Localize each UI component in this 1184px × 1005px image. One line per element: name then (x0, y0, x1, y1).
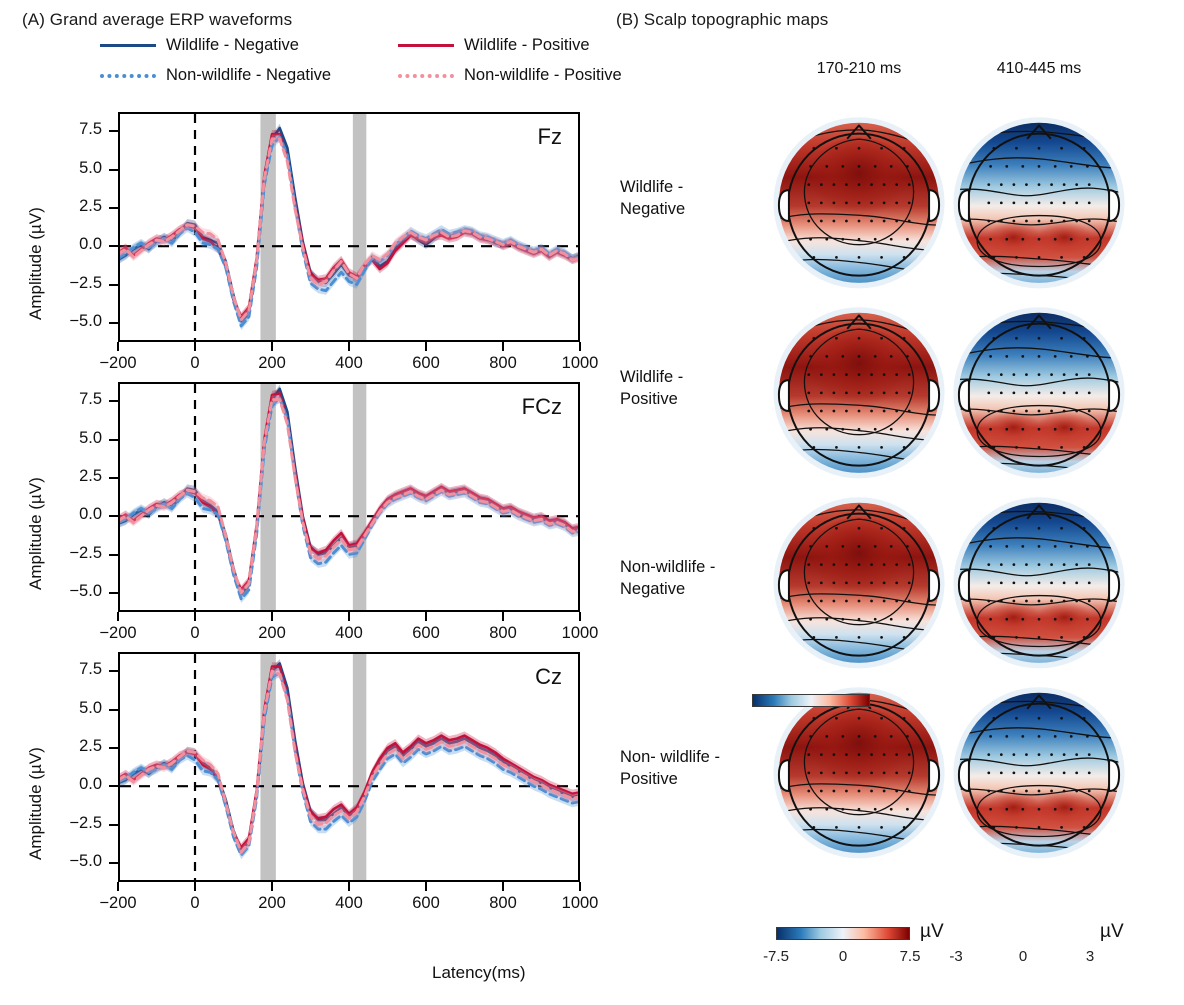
y-axis-label-cz: Amplitude (µV) (26, 747, 46, 860)
electrode-dot (1054, 165, 1057, 168)
electrode-dot (1075, 373, 1078, 376)
electrode-dot (880, 826, 883, 829)
electrode-dot (820, 581, 823, 584)
electrode-dot (908, 220, 911, 223)
right-ear-marker (1109, 760, 1119, 791)
x-tick-label: 1000 (540, 624, 620, 643)
x-tick-label: 200 (232, 624, 312, 643)
electrode-dot (870, 410, 873, 413)
topo-map-1 (948, 110, 1130, 292)
x-tick (271, 882, 273, 891)
y-tick-label: 5.0 (42, 429, 102, 448)
electrode-dot (1060, 636, 1063, 639)
electrode-dot (841, 545, 844, 548)
electrode-dot (858, 355, 861, 358)
x-tick (579, 882, 581, 891)
electrode-dot (833, 771, 836, 774)
electrode-dot (1038, 618, 1041, 621)
electrode-dot (1088, 563, 1091, 566)
electrode-dot (1005, 618, 1008, 621)
electrode-dot (895, 753, 898, 756)
electrode-dot (858, 735, 861, 738)
x-tick (502, 882, 504, 891)
electrode-dot (858, 545, 861, 548)
x-tick-label: 400 (309, 624, 389, 643)
x-tick (425, 342, 427, 351)
electrode-dot (883, 790, 886, 793)
electrode-dot (825, 238, 828, 241)
electrode-dot (1050, 600, 1053, 603)
electrode-dot (1075, 391, 1078, 394)
colorbar-unit-170-210: µV (920, 921, 944, 943)
electrode-dot (809, 808, 812, 811)
right-ear-marker (929, 570, 939, 601)
electrode-dot (1021, 165, 1024, 168)
electrode-dot (858, 771, 861, 774)
electrode-dot (880, 446, 883, 449)
electrode-dot (1075, 790, 1078, 793)
electrode-dot (858, 790, 861, 793)
electrode-dot (1075, 220, 1078, 223)
electrode-dot (1038, 717, 1041, 720)
erp-trace-fcz-2 (120, 398, 578, 599)
y-axis-label-fz: Amplitude (µV) (26, 207, 46, 320)
electrode-dot (906, 735, 909, 738)
electrode-dot (1086, 735, 1089, 738)
electrode-dot (1063, 373, 1066, 376)
x-tick (194, 342, 196, 351)
topo-map-cell-r0-c0 (768, 110, 950, 292)
electrode-dot (1025, 790, 1028, 793)
x-tick-label: 200 (232, 354, 312, 373)
electrode-dot (908, 183, 911, 186)
electrode-dot (883, 600, 886, 603)
electrode-dot (858, 165, 861, 168)
electrode-dot (1070, 618, 1073, 621)
x-tick (579, 342, 581, 351)
topo-map-cell-r1-c0 (768, 300, 950, 482)
electrode-dot (908, 771, 911, 774)
electrode-dot (835, 147, 838, 150)
electrode-dot (880, 527, 883, 530)
topo-map-2 (768, 300, 950, 482)
electrode-dot (1050, 753, 1053, 756)
electrode-dot (987, 753, 990, 756)
electrode-dot (1025, 183, 1028, 186)
colorbar-tick-170-210-1: 0 (819, 948, 867, 965)
x-tick (579, 612, 581, 621)
electrode-dot (1075, 753, 1078, 756)
electrode-dot (883, 771, 886, 774)
electrode-dot (1038, 220, 1041, 223)
electrode-dot (825, 545, 828, 548)
electrode-dot (858, 410, 861, 413)
x-tick-label: 1000 (540, 894, 620, 913)
y-tick (109, 477, 118, 479)
electrode-dot (1088, 581, 1091, 584)
x-tick-label: 0 (155, 624, 235, 643)
electrode-dot (1015, 826, 1018, 829)
electrode-dot (908, 201, 911, 204)
electrode-dot (807, 183, 810, 186)
electrode-dot (1075, 600, 1078, 603)
electrode-dot (1050, 410, 1053, 413)
electrode-dot (809, 545, 812, 548)
y-tick (109, 400, 118, 402)
electrode-dot (841, 618, 844, 621)
electrode-dot (1021, 808, 1024, 811)
electrode-dot (1025, 600, 1028, 603)
electrode-dot (883, 183, 886, 186)
y-tick (109, 554, 118, 556)
electrode-dot (908, 563, 911, 566)
electrode-dot (841, 355, 844, 358)
electrode-dot (880, 147, 883, 150)
electrode-dot (835, 256, 838, 259)
y-tick-label: 5.0 (42, 159, 102, 178)
x-tick (271, 342, 273, 351)
electrode-dot (1013, 563, 1016, 566)
electrode-dot (1025, 391, 1028, 394)
electrode-dot (987, 600, 990, 603)
electrode-dot (906, 355, 909, 358)
electrode-dot (880, 337, 883, 340)
electrode-dot (858, 373, 861, 376)
topo-map-5 (948, 490, 1130, 672)
electrode-dot (1005, 545, 1008, 548)
electrode-dot (1054, 428, 1057, 431)
electrode-dot (1000, 790, 1003, 793)
electrode-dot (880, 256, 883, 259)
electrode-dot (1000, 563, 1003, 566)
electrode-dot (1086, 355, 1089, 358)
y-tick (109, 670, 118, 672)
electrode-dot (845, 790, 848, 793)
topo-map-cell-r1-c1 (948, 300, 1130, 482)
electrode-dot (890, 165, 893, 168)
y-tick (109, 515, 118, 517)
colorbar-tick-410-445-2: 3 (1066, 948, 1114, 965)
electrode-dot (825, 355, 828, 358)
x-tick-label: 400 (309, 354, 389, 373)
electrode-dot (1063, 220, 1066, 223)
electrode-dot (989, 165, 992, 168)
electrode-dot (1025, 771, 1028, 774)
x-tick-label: 800 (463, 894, 543, 913)
electrode-dot (858, 808, 861, 811)
electrode-dot (1013, 391, 1016, 394)
channel-label-fz: Fz (538, 124, 562, 149)
electrode-dot (1015, 446, 1018, 449)
electrode-dot (845, 201, 848, 204)
electrode-dot (895, 201, 898, 204)
sem-ribbon-2 (120, 394, 578, 603)
electrode-dot (833, 183, 836, 186)
electrode-dot (835, 636, 838, 639)
topo-row-label-line: Wildlife - (620, 367, 760, 389)
channel-label-cz: Cz (535, 664, 562, 689)
topo-panel-group: 170-210 ms410-445 msWildlife -NegativeWi… (620, 0, 1184, 1005)
electrode-dot (845, 753, 848, 756)
colorbar-strip-170-210 (776, 927, 910, 940)
electrode-dot (858, 717, 861, 720)
electrode-dot (883, 373, 886, 376)
electrode-dot (989, 355, 992, 358)
topo-column-header-1: 410-445 ms (948, 60, 1130, 78)
x-tick (425, 612, 427, 621)
electrode-dot (820, 373, 823, 376)
electrode-dot (1021, 545, 1024, 548)
electrode-dot (1070, 165, 1073, 168)
electrode-dot (987, 183, 990, 186)
electrode-dot (870, 581, 873, 584)
electrode-dot (989, 735, 992, 738)
x-tick (348, 612, 350, 621)
electrode-dot (1038, 808, 1041, 811)
electrode-dot (880, 636, 883, 639)
electrode-dot (1000, 581, 1003, 584)
electrode-dot (883, 220, 886, 223)
electrode-dot (1050, 183, 1053, 186)
x-tick-label: 400 (309, 894, 389, 913)
left-ear-marker (959, 190, 969, 221)
electrode-dot (809, 238, 812, 241)
electrode-dot (989, 808, 992, 811)
electrode-dot (1038, 581, 1041, 584)
electrode-dot (820, 600, 823, 603)
electrode-dot (833, 220, 836, 223)
electrode-dot (987, 771, 990, 774)
electrode-dot (1060, 337, 1063, 340)
electrode-dot (833, 581, 836, 584)
electrode-dot (1054, 238, 1057, 241)
electrode-dot (1070, 428, 1073, 431)
electrode-dot (1050, 771, 1053, 774)
electrode-dot (825, 428, 828, 431)
x-tick-label: 600 (386, 894, 466, 913)
x-tick-label: −200 (78, 894, 158, 913)
electrode-dot (858, 201, 861, 204)
electrode-dot (833, 753, 836, 756)
electrode-dot (1070, 735, 1073, 738)
electrode-dot (1005, 355, 1008, 358)
topo-column-header-0: 170-210 ms (768, 60, 950, 78)
electrode-dot (1015, 337, 1018, 340)
electrode-dot (835, 826, 838, 829)
electrode-dot (1038, 636, 1041, 639)
electrode-dot (809, 165, 812, 168)
electrode-dot (895, 771, 898, 774)
electrode-dot (845, 391, 848, 394)
electrode-dot (895, 600, 898, 603)
electrode-dot (1000, 600, 1003, 603)
electrode-dot (1025, 201, 1028, 204)
electrode-dot (883, 391, 886, 394)
electrode-dot (908, 581, 911, 584)
electrode-dot (874, 735, 877, 738)
x-tick-label: 0 (155, 354, 235, 373)
electrode-dot (870, 771, 873, 774)
y-tick (109, 284, 118, 286)
sem-ribbon-2 (120, 133, 578, 330)
electrode-dot (1038, 373, 1041, 376)
electrode-dot (1038, 238, 1041, 241)
electrode-dot (1054, 545, 1057, 548)
electrode-dot (845, 183, 848, 186)
y-tick (109, 322, 118, 324)
y-tick-label: −5.0 (42, 852, 102, 871)
electrode-dot (895, 563, 898, 566)
topo-row-label-line: Negative (620, 199, 760, 221)
electrode-dot (1038, 256, 1041, 259)
electrode-dot (825, 165, 828, 168)
y-tick-label: −5.0 (42, 312, 102, 331)
electrode-dot (807, 201, 810, 204)
electrode-dot (1038, 446, 1041, 449)
topo-row-label-line: Positive (620, 769, 760, 791)
electrode-dot (845, 771, 848, 774)
electrode-dot (1021, 238, 1024, 241)
electrode-dot (1086, 618, 1089, 621)
y-tick (109, 592, 118, 594)
electrode-dot (845, 373, 848, 376)
topo-row-label-1: Wildlife -Positive (620, 367, 760, 411)
electrode-dot (1088, 600, 1091, 603)
electrode-dot (858, 636, 861, 639)
electrode-dot (841, 428, 844, 431)
electrode-dot (1038, 183, 1041, 186)
electrode-dot (820, 771, 823, 774)
electrode-dot (1063, 183, 1066, 186)
electrode-dot (1088, 183, 1091, 186)
erp-panel-group: Fz−5.0−2.50.02.55.07.5−20002004006008001… (0, 0, 620, 1005)
electrode-dot (883, 201, 886, 204)
electrode-dot (820, 183, 823, 186)
electrode-dot (906, 165, 909, 168)
electrode-dot (987, 790, 990, 793)
electrode-dot (1005, 808, 1008, 811)
electrode-dot (1060, 826, 1063, 829)
electrode-dot (858, 183, 861, 186)
electrode-dot (1050, 373, 1053, 376)
electrode-dot (874, 428, 877, 431)
electrode-dot (1038, 771, 1041, 774)
electrode-dot (1086, 428, 1089, 431)
electrode-dot (870, 753, 873, 756)
electrode-dot (890, 808, 893, 811)
electrode-dot (858, 563, 861, 566)
electrode-dot (1070, 808, 1073, 811)
electrode-dot (1050, 563, 1053, 566)
electrode-dot (1060, 147, 1063, 150)
topo-row-label-line: Non-wildlife - (620, 557, 760, 579)
electrode-dot (809, 735, 812, 738)
topo-map-cell-r2-c0 (768, 490, 950, 672)
electrode-dot (1013, 410, 1016, 413)
electrode-dot (890, 428, 893, 431)
electrode-dot (825, 808, 828, 811)
x-tick (194, 612, 196, 621)
colorbar-strip-overlapping (752, 694, 870, 707)
electrode-dot (906, 545, 909, 548)
electrode-dot (987, 373, 990, 376)
electrode-dot (820, 220, 823, 223)
electrode-dot (807, 790, 810, 793)
electrode-dot (1060, 256, 1063, 259)
electrode-dot (845, 581, 848, 584)
electrode-dot (1088, 391, 1091, 394)
electrode-dot (906, 238, 909, 241)
electrode-dot (874, 808, 877, 811)
topo-map-cell-r0-c1 (948, 110, 1130, 292)
electrode-dot (1063, 563, 1066, 566)
left-ear-marker (959, 380, 969, 411)
electrode-dot (987, 391, 990, 394)
electrode-dot (890, 238, 893, 241)
y-tick (109, 245, 118, 247)
electrode-dot (841, 238, 844, 241)
electrode-dot (833, 563, 836, 566)
electrode-dot (858, 826, 861, 829)
y-tick-label: 0.0 (42, 235, 102, 254)
electrode-dot (1013, 771, 1016, 774)
y-tick (109, 709, 118, 711)
electrode-dot (1025, 753, 1028, 756)
electrode-dot (820, 410, 823, 413)
electrode-dot (833, 410, 836, 413)
electrode-dot (1021, 735, 1024, 738)
electrode-dot (883, 753, 886, 756)
electrode-dot (1038, 165, 1041, 168)
electrode-dot (1038, 391, 1041, 394)
electrode-dot (870, 183, 873, 186)
electrode-dot (1038, 563, 1041, 566)
electrode-dot (1070, 545, 1073, 548)
x-tick (271, 612, 273, 621)
electrode-dot (1038, 826, 1041, 829)
electrode-dot (809, 618, 812, 621)
electrode-dot (807, 753, 810, 756)
electrode-dot (1013, 753, 1016, 756)
right-ear-marker (1109, 570, 1119, 601)
electrode-dot (1000, 183, 1003, 186)
electrode-dot (1075, 563, 1078, 566)
x-tick-label: −200 (78, 624, 158, 643)
time-window-band-1 (353, 384, 366, 610)
electrode-dot (1015, 717, 1018, 720)
topo-map-0 (768, 110, 950, 292)
x-tick (502, 342, 504, 351)
electrode-dot (1013, 600, 1016, 603)
electrode-dot (1088, 790, 1091, 793)
electrode-dot (1050, 201, 1053, 204)
electrode-dot (1063, 581, 1066, 584)
y-tick (109, 130, 118, 132)
electrode-dot (809, 428, 812, 431)
electrode-dot (1025, 410, 1028, 413)
electrode-dot (1063, 600, 1066, 603)
right-ear-marker (1109, 190, 1119, 221)
electrode-dot (906, 618, 909, 621)
topo-map-cell-r3-c0 (768, 680, 950, 862)
electrode-dot (1063, 790, 1066, 793)
x-tick (117, 612, 119, 621)
electrode-dot (1038, 147, 1041, 150)
topo-map-6 (768, 680, 950, 862)
x-tick (348, 882, 350, 891)
y-tick-label: 7.5 (42, 390, 102, 409)
electrode-dot (1038, 355, 1041, 358)
